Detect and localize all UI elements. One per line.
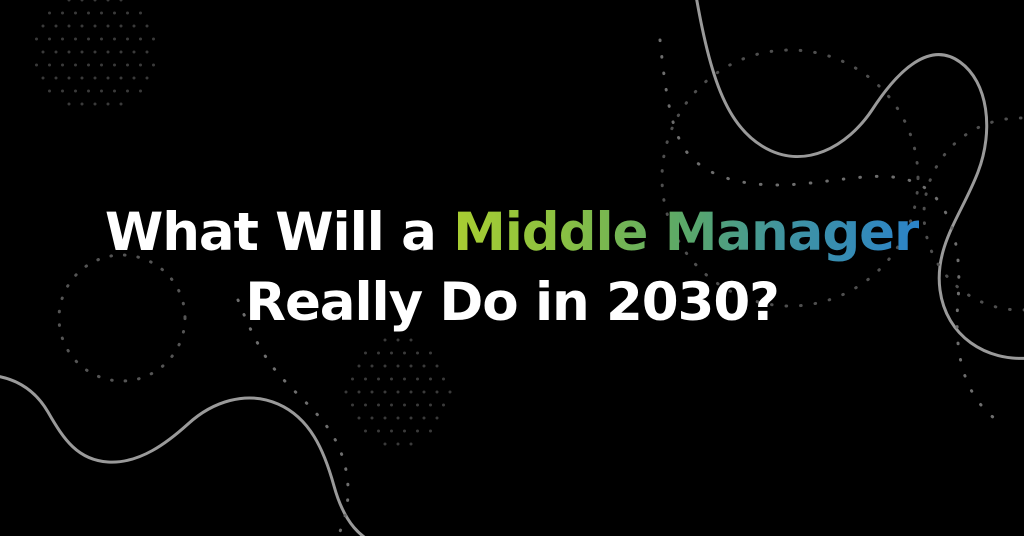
headline-plain-text: What Will a — [105, 202, 453, 263]
headline-block: What Will a Middle Manager Really Do in … — [0, 0, 1024, 536]
headline-line-2: Really Do in 2030? — [245, 268, 779, 338]
headline-line-1: What Will a Middle Manager — [105, 198, 919, 268]
title-banner: What Will a Middle Manager Really Do in … — [0, 0, 1024, 536]
headline-highlight-text: Middle Manager — [453, 202, 919, 263]
